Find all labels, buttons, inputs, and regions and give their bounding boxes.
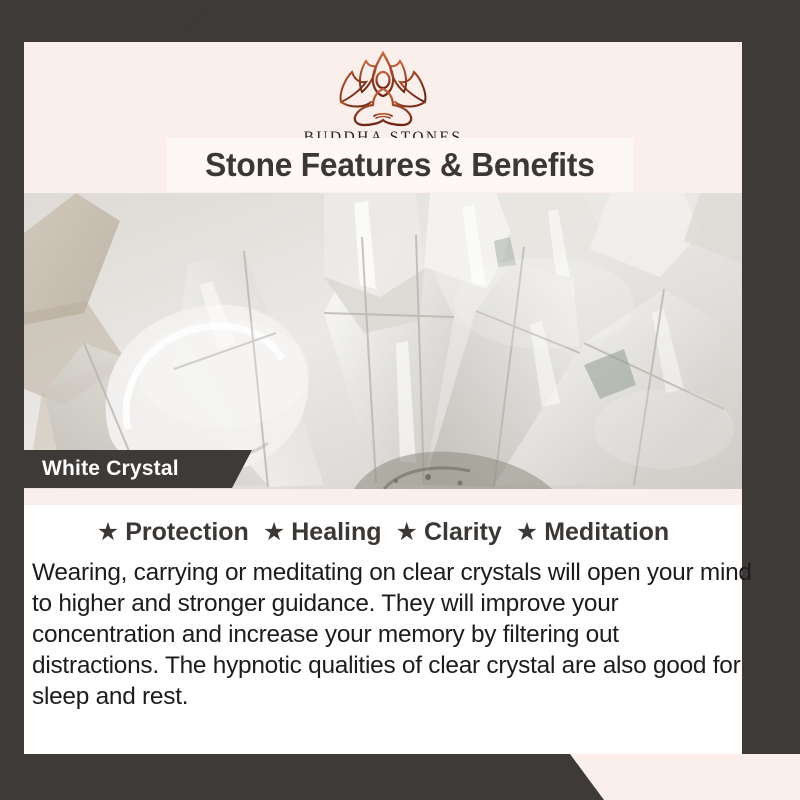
benefit-label: Clarity bbox=[424, 518, 502, 547]
benefit-label: Meditation bbox=[544, 518, 669, 547]
star-icon: ★ bbox=[516, 520, 538, 545]
lotus-meditation-icon bbox=[324, 50, 442, 128]
benefit-item-healing: ★ Healing bbox=[263, 518, 382, 547]
frame-top-bar bbox=[0, 0, 800, 42]
description-text: Wearing, carrying or meditating on clear… bbox=[32, 557, 752, 712]
frame-bottom-right-accent bbox=[570, 754, 800, 800]
star-icon: ★ bbox=[97, 520, 119, 545]
photo-caption-tab: White Crystal bbox=[24, 450, 252, 488]
star-icon: ★ bbox=[396, 520, 418, 545]
benefit-label: Protection bbox=[125, 518, 249, 547]
page-title: Stone Features & Benefits bbox=[205, 146, 595, 184]
photo-caption-label: White Crystal bbox=[42, 457, 179, 481]
white-crystal-cluster-photo bbox=[24, 193, 742, 489]
body-accent-strip bbox=[24, 489, 742, 505]
header: BUDDHA STONES Stone Features & Benefits bbox=[24, 42, 742, 194]
benefit-item-protection: ★ Protection bbox=[97, 518, 249, 547]
poster-root: BUDDHA STONES Stone Features & Benefits bbox=[0, 0, 800, 800]
benefit-item-clarity: ★ Clarity bbox=[396, 518, 502, 547]
page-title-plate: Stone Features & Benefits bbox=[167, 138, 633, 192]
star-icon: ★ bbox=[263, 520, 285, 545]
brand-logo: BUDDHA STONES bbox=[24, 50, 742, 146]
benefits-list: ★ Protection ★ Healing ★ Clarity ★ Medit… bbox=[24, 513, 742, 551]
benefit-item-meditation: ★ Meditation bbox=[516, 518, 669, 547]
frame-left-bar bbox=[0, 0, 24, 800]
benefit-label: Healing bbox=[291, 518, 381, 547]
